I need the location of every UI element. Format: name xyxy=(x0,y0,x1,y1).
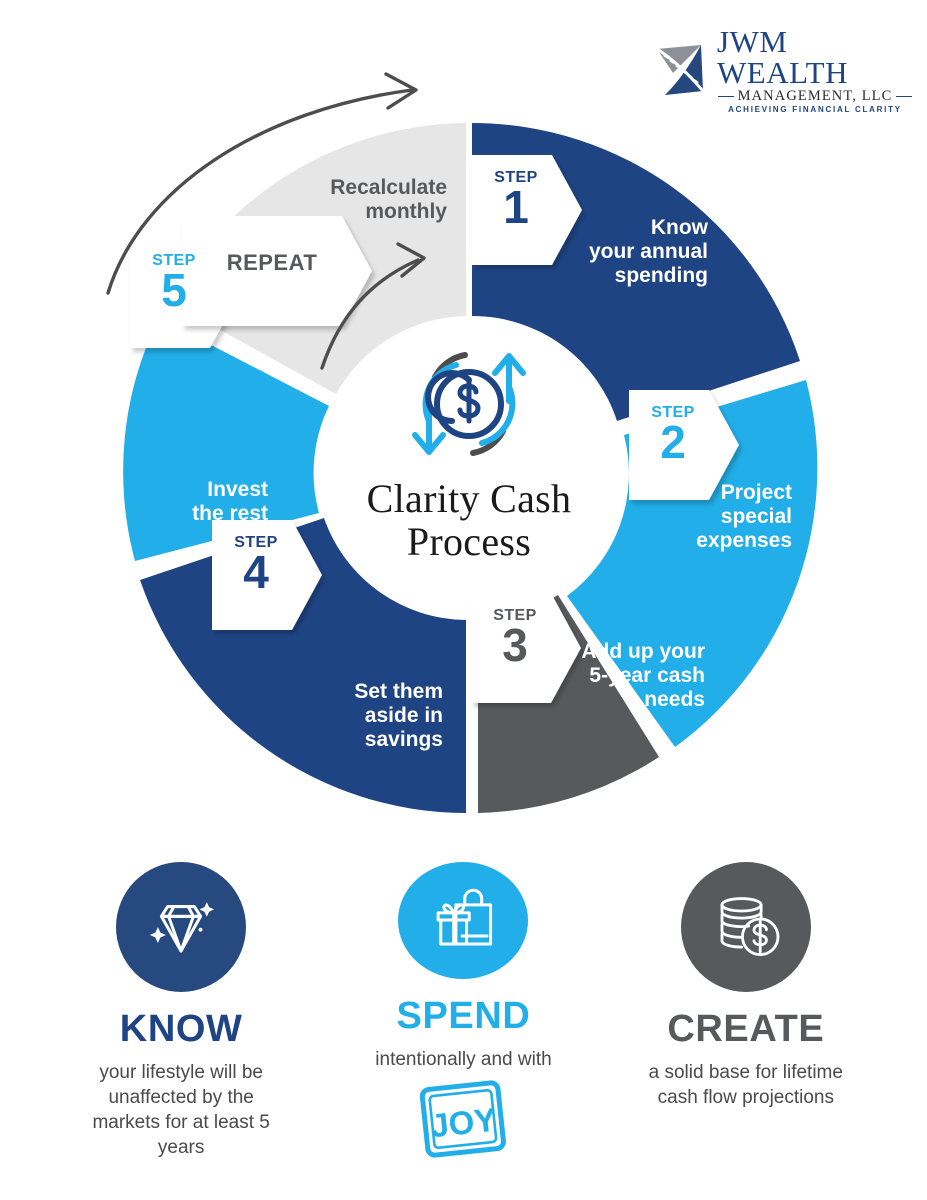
step-4-line-1: Set them xyxy=(313,680,443,704)
joy-stamp: JOY xyxy=(411,1078,515,1162)
outcome-spend-description: intentionally and with xyxy=(356,1047,571,1072)
step-2-number: 2 xyxy=(634,419,712,465)
shopping-bag-gift-icon xyxy=(423,880,503,960)
cash-cycle-icon xyxy=(409,345,529,463)
step-4-text: Set them aside in savings xyxy=(313,680,443,752)
step-2-line-2: special xyxy=(672,505,792,529)
step-3-line-2: 5-year cash xyxy=(540,664,705,688)
step-3-text: Add up your 5-year cash needs xyxy=(540,640,705,712)
wheel-center: Clarity Cash Process xyxy=(309,345,629,605)
coin-stack-icon xyxy=(706,887,786,967)
step-1-line-2: your annual xyxy=(588,240,708,264)
step-1-line-3: spending xyxy=(588,264,708,288)
outcome-create: CREATE a solid base for lifetime cash fl… xyxy=(605,862,887,1162)
outcome-know: KNOW your lifestyle will be unaffected b… xyxy=(40,862,322,1162)
logo-line-1: JWM WEALTH xyxy=(717,26,913,88)
diamond-icon-circle xyxy=(116,862,246,992)
outcome-create-description: a solid base for lifetime cash flow proj… xyxy=(638,1060,853,1110)
outcome-know-description: your lifestyle will be unaffected by the… xyxy=(74,1060,289,1160)
logo-line-2: MANAGEMENT, LLC xyxy=(738,89,893,104)
outcome-spend-keyword: SPEND xyxy=(397,997,531,1035)
diamond-icon xyxy=(141,887,221,967)
infographic-page: JWM WEALTH MANAGEMENT, LLC ACHIEVING FIN… xyxy=(0,0,927,1200)
shopping-bag-gift-icon-circle xyxy=(398,862,528,979)
step-1-line-1: Know xyxy=(588,216,708,240)
jwm-sail-logo-mark xyxy=(651,39,713,101)
repeat-line-2: monthly xyxy=(272,200,447,224)
logo-rule-right xyxy=(896,96,912,97)
step-2-text: Project special expenses xyxy=(672,481,792,553)
joy-stamp-text: JOY xyxy=(429,1101,499,1145)
logo-wordmark: JWM WEALTH MANAGEMENT, LLC ACHIEVING FIN… xyxy=(717,26,913,115)
step-3-line-3: needs xyxy=(540,688,705,712)
step-3-line-1: Add up your xyxy=(540,640,705,664)
repeat-line-1: Recalculate xyxy=(272,176,447,200)
company-logo: JWM WEALTH MANAGEMENT, LLC ACHIEVING FIN… xyxy=(651,34,913,106)
step-4-line-3: savings xyxy=(313,728,443,752)
step-1-text: Know your annual spending xyxy=(588,216,708,288)
step-4-number: 4 xyxy=(217,549,295,595)
center-title-line-2: Process xyxy=(309,520,629,563)
coin-stack-icon-circle xyxy=(681,862,811,992)
outcomes-row: KNOW your lifestyle will be unaffected b… xyxy=(40,862,887,1162)
step-2-line-3: expenses xyxy=(672,529,792,553)
step-5-line-2: the rest xyxy=(143,502,268,526)
outcome-create-keyword: CREATE xyxy=(667,1010,824,1048)
step-2-line-1: Project xyxy=(672,481,792,505)
step-1-chevron-label: STEP 1 xyxy=(477,170,555,230)
logo-rule-left xyxy=(718,96,734,97)
repeat-text: Recalculate monthly xyxy=(272,176,447,224)
repeat-chevron-label: REPEAT xyxy=(192,252,352,274)
page-title: Clarity Cash Process xyxy=(309,477,629,563)
logo-tagline: ACHIEVING FINANCIAL CLARITY xyxy=(728,106,902,114)
step-1-number: 1 xyxy=(477,184,555,230)
step-2-chevron-label: STEP 2 xyxy=(634,405,712,465)
step-5-line-1: Invest xyxy=(143,478,268,502)
step-5-text: Invest the rest xyxy=(143,478,268,526)
center-title-line-1: Clarity Cash xyxy=(309,477,629,520)
step-4-chevron-label: STEP 4 xyxy=(217,535,295,595)
outcome-spend: SPEND intentionally and with JOY xyxy=(322,862,604,1162)
outcome-know-keyword: KNOW xyxy=(120,1010,243,1048)
step-4-line-2: aside in xyxy=(313,704,443,728)
